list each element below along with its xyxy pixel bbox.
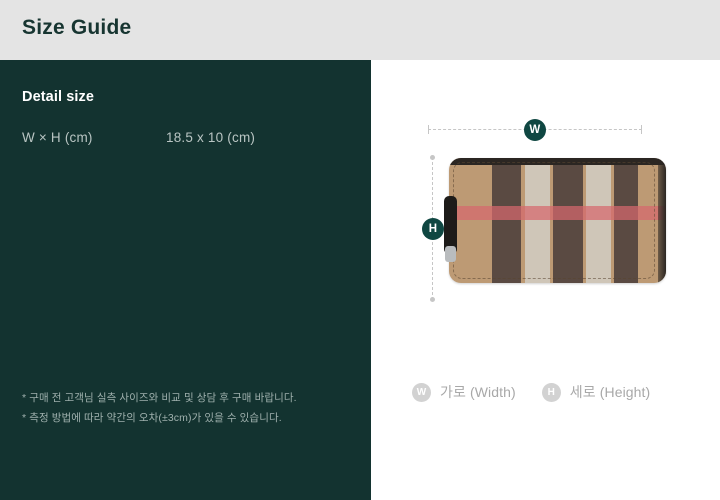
width-cap-start: [428, 125, 429, 134]
height-dot-top: [430, 155, 435, 160]
legend-badge-w: W: [412, 383, 431, 402]
legend-item-width: W 가로 (Width): [412, 382, 516, 402]
height-marker-badge: H: [422, 218, 444, 240]
page-header: Size Guide: [0, 0, 720, 60]
size-guide-page: Size Guide Detail size W × H (cm) 18.5 x…: [0, 0, 720, 500]
diagram-panel: W H: [371, 60, 720, 500]
spec-row: W × H (cm) 18.5 x 10 (cm): [22, 130, 352, 150]
width-cap-end: [641, 125, 642, 134]
wallet-zipper-tab: [445, 246, 456, 262]
spec-label: W × H (cm): [22, 130, 93, 145]
spec-value: 18.5 x 10 (cm): [166, 130, 255, 145]
wallet-body: [449, 158, 666, 283]
legend: W 가로 (Width) H 세로 (Height): [412, 382, 650, 402]
product-image-wallet: [449, 158, 666, 283]
wallet-zipper-right: [658, 158, 666, 283]
detail-size-panel: Detail size W × H (cm) 18.5 x 10 (cm) * …: [0, 60, 371, 500]
page-title: Size Guide: [22, 16, 131, 40]
height-dot-bottom: [430, 297, 435, 302]
wallet-stitching: [453, 162, 655, 279]
width-marker-badge: W: [524, 119, 546, 141]
legend-label-width: 가로 (Width): [440, 382, 516, 402]
note-line-2: * 측정 방법에 따라 약간의 오차(±3cm)가 있을 수 있습니다.: [22, 408, 352, 428]
height-dimension-line: H: [432, 157, 434, 300]
notes-block: * 구매 전 고객님 실측 사이즈와 비교 및 상담 후 구매 바랍니다. * …: [22, 388, 352, 428]
note-line-1: * 구매 전 고객님 실측 사이즈와 비교 및 상담 후 구매 바랍니다.: [22, 388, 352, 408]
legend-item-height: H 세로 (Height): [542, 382, 651, 402]
legend-label-height: 세로 (Height): [570, 382, 651, 402]
legend-badge-h: H: [542, 383, 561, 402]
detail-size-heading: Detail size: [22, 89, 94, 105]
width-dimension-line: W: [428, 129, 642, 131]
